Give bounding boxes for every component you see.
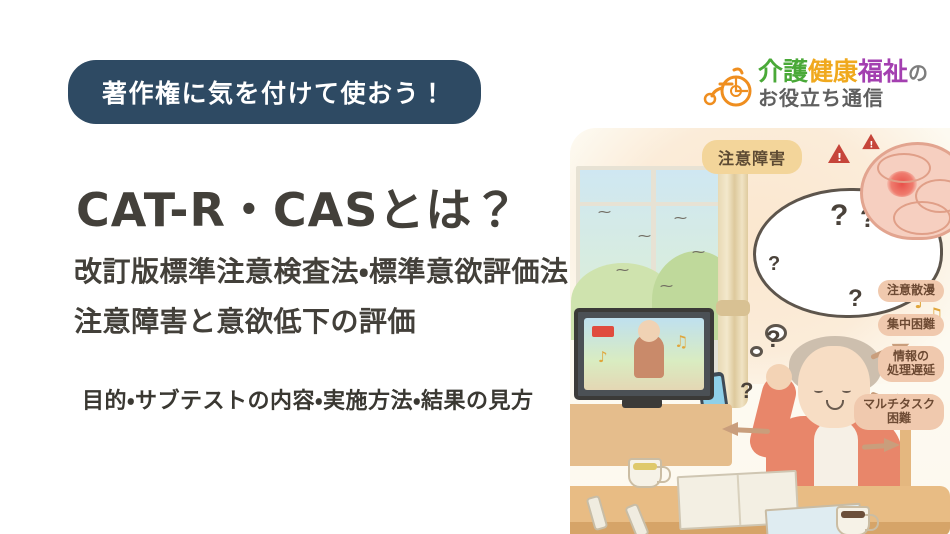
bird-icon	[638, 232, 658, 241]
page-title: CAT-R・CASとは？	[76, 174, 519, 240]
television-icon: ♪ ♫	[574, 308, 714, 400]
eye-left	[814, 388, 823, 393]
eye-right	[842, 388, 851, 393]
curtain-tie	[716, 300, 750, 316]
elderly-woman-hand	[766, 364, 792, 390]
question-mark-icon: ?	[740, 378, 753, 404]
question-mark-icon: ?	[830, 199, 848, 233]
warning-triangle-icon: !	[828, 144, 850, 163]
tagline: 目的・サブテストの内容・実施方法・結果の見方	[82, 383, 533, 415]
subtitle-line-1: 改訂版標準注意検査法・標準意欲評価法	[74, 250, 569, 290]
bird-icon	[660, 282, 680, 291]
symptom-badge-concentration: 集中困難	[878, 314, 944, 336]
brain-fold	[893, 201, 950, 235]
arrow-icon	[722, 422, 738, 436]
bird-icon	[598, 208, 618, 217]
notice-badge: 注意障害	[702, 140, 802, 174]
bird-icon	[692, 248, 712, 257]
thought-bubble-smallest	[750, 346, 763, 357]
music-note-icon: ♪	[598, 348, 608, 366]
curtain-illustration	[718, 158, 748, 408]
warning-triangle-icon: !	[862, 134, 880, 149]
tv-cabinet	[570, 404, 732, 466]
coffee-cup-icon	[628, 458, 662, 488]
bird-icon	[674, 214, 694, 223]
site-logo[interactable]: 介護健康福祉の お役立ち通信	[700, 52, 920, 114]
bird-icon	[616, 266, 636, 275]
tv-live-badge	[592, 326, 614, 337]
question-mark-icon: ?	[848, 285, 863, 313]
question-mark-icon: ?	[768, 253, 780, 276]
music-note-icon: ♫	[674, 332, 688, 351]
wheelchair-icon	[700, 64, 762, 108]
symptom-badge-processing-delay: 情報の 処理遅延	[878, 346, 944, 382]
logo-text-line-2: お役立ち通信	[758, 82, 884, 111]
symptom-badge-multitask: マルチタスク 困難	[854, 394, 944, 430]
logo-text-no: の	[908, 61, 928, 85]
tea-cup-icon	[836, 506, 870, 534]
cup-liquid	[633, 463, 657, 470]
tv-person-figure	[634, 334, 664, 378]
warning-exclamation: !	[837, 151, 842, 164]
illustration-panel: ••• 悩み ♪ ♫ ? ? ? ? ? ? ! ! 注意障害	[570, 128, 950, 534]
brain-fold	[877, 153, 931, 183]
arrow-icon	[884, 438, 900, 452]
warning-exclamation: !	[869, 140, 873, 150]
subtitle-line-2: 注意障害と意欲低下の評価	[74, 300, 416, 340]
tv-screen: ♪ ♫	[584, 318, 704, 390]
symptom-badge-distraction: 注意散漫	[878, 280, 944, 302]
question-mark-icon: ?	[766, 326, 781, 354]
cup-liquid	[841, 511, 865, 518]
copyright-notice-badge: 著作権に気を付けて使おう！	[68, 60, 481, 124]
tv-stand	[622, 398, 662, 408]
